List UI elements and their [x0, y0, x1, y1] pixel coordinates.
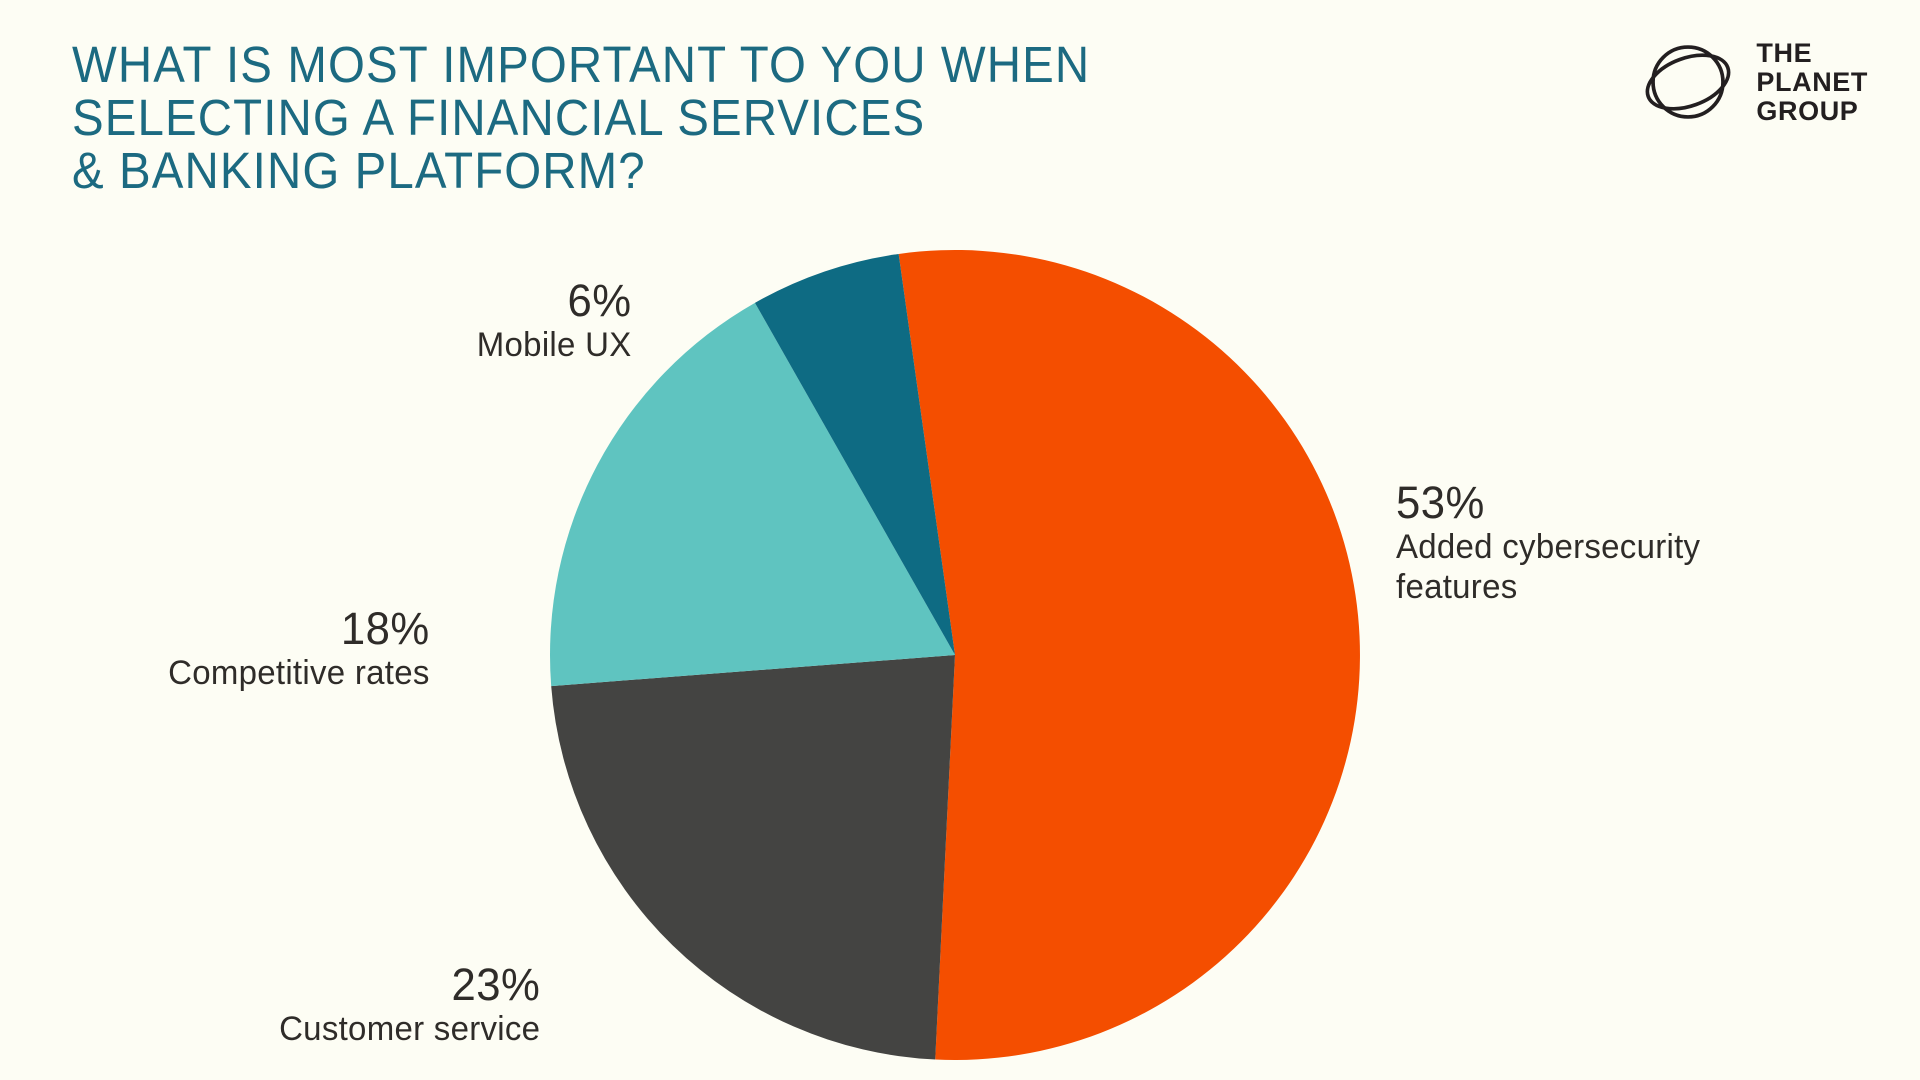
pie-label-added-cybersecurity-features-text: Added cybersecurity features: [1396, 527, 1700, 607]
pie-label-customer-service: 23% Customer service: [279, 960, 540, 1049]
pie-label-competitive-rates-value: 18%: [168, 604, 430, 653]
pie-label-mobile-ux-text: Mobile UX: [477, 325, 632, 365]
pie-slice-group: [550, 250, 1360, 1060]
pie-slice-added-cybersecurity-features: [899, 250, 1360, 1060]
pie-label-mobile-ux-value: 6%: [477, 276, 632, 325]
pie-label-competitive-rates-text: Competitive rates: [168, 653, 430, 693]
pie-label-competitive-rates: 18% Competitive rates: [168, 604, 430, 693]
pie-label-customer-service-text: Customer service: [279, 1009, 540, 1049]
pie-label-added-cybersecurity-features: 53% Added cybersecurity features: [1396, 478, 1700, 607]
pie-slice-customer-service: [551, 655, 955, 1060]
pie-label-mobile-ux: 6% Mobile UX: [477, 276, 632, 365]
pie-label-customer-service-value: 23%: [279, 960, 540, 1009]
pie-label-added-cybersecurity-features-value: 53%: [1396, 478, 1700, 527]
slide-canvas: WHAT IS MOST IMPORTANT TO YOU WHEN SELEC…: [0, 0, 1920, 1080]
